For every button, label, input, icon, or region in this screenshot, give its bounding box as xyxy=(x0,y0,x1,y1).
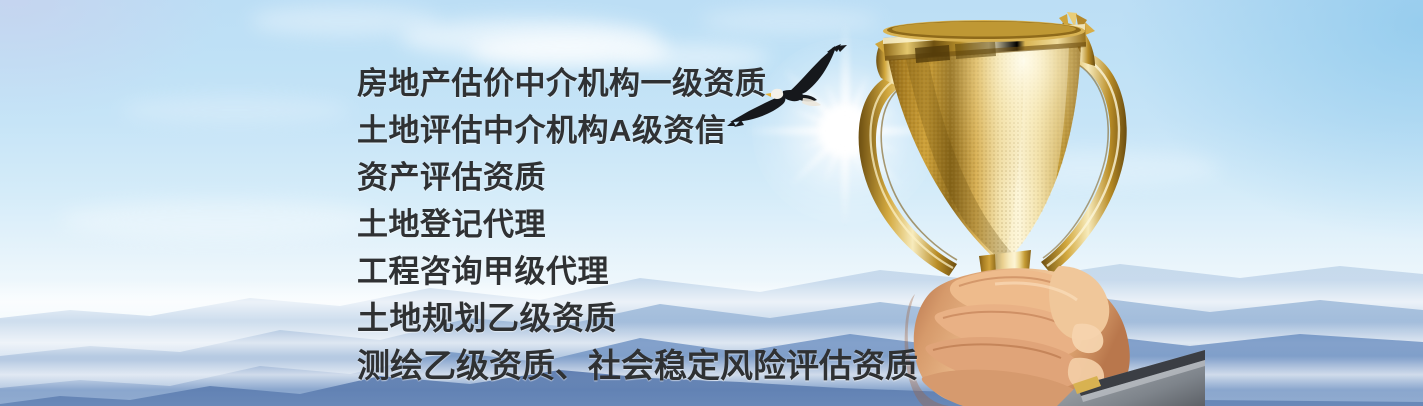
qualification-line-2: 土地评估中介机构A级资信 xyxy=(357,107,1057,154)
qualification-line-7: 测绘乙级资质、社会稳定风险评估资质 xyxy=(357,342,1057,389)
qualification-line-5-head: 工程咨询 xyxy=(357,254,483,289)
cloud-icon xyxy=(120,96,350,124)
qualification-line-1: 房地产估价中介机构一级资质 xyxy=(357,60,1057,107)
qualification-line-3: 资产评估资质 xyxy=(357,154,1057,201)
qualification-list: 房地产估价中介机构一级资质 土地评估中介机构A级资信 资产评估资质 土地登记代理… xyxy=(357,60,1057,389)
qualification-line-4: 土地登记代理 xyxy=(357,201,1057,248)
qualification-banner: 房地产估价中介机构一级资质 土地评估中介机构A级资信 资产评估资质 土地登记代理… xyxy=(0,0,1423,406)
qualification-line-5: 工程咨询甲级代理 xyxy=(357,248,1057,295)
qualification-line-5-emphasis: 甲 xyxy=(483,254,515,289)
qualification-line-5-tail: 级代理 xyxy=(515,254,610,289)
qualification-line-6: 土地规划乙级资质 xyxy=(357,295,1057,342)
